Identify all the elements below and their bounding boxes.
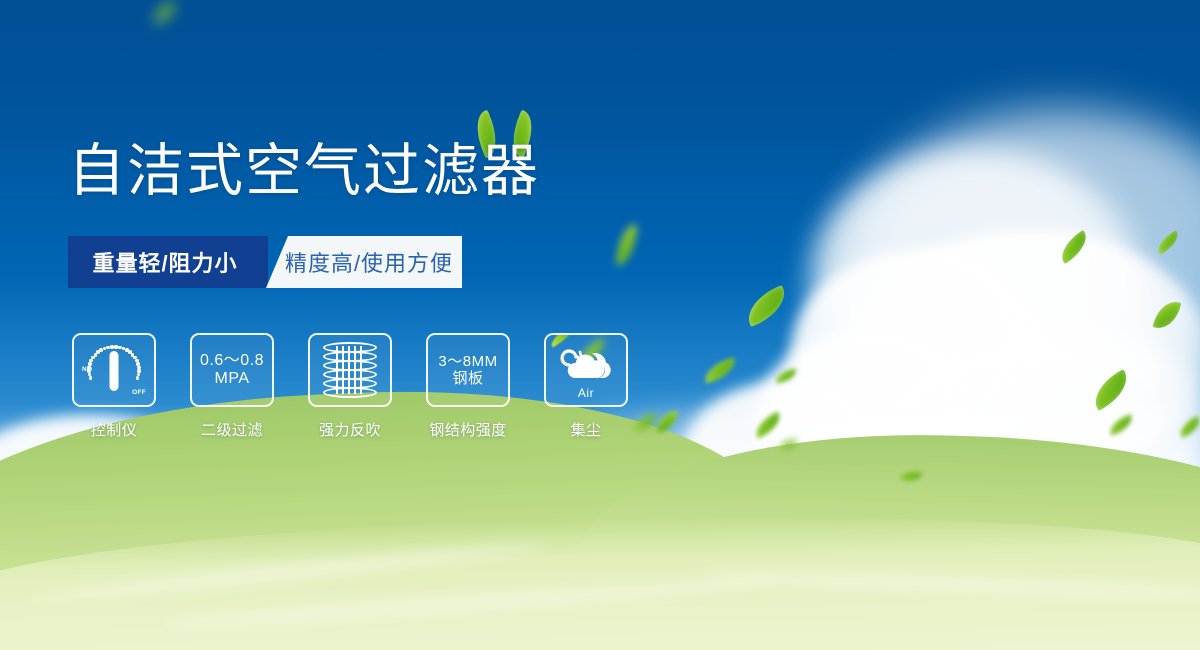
- gauge-tick: [87, 369, 91, 373]
- gauge-tick: [89, 376, 93, 380]
- air-cloud-icon: Air: [555, 345, 617, 395]
- pleated-filter-icon: [323, 342, 377, 398]
- feature-item-controller[interactable]: NO OFF 控制仪: [68, 333, 160, 440]
- subtitle-right-panel: 精度高/使用方便: [266, 236, 462, 288]
- feature-item-blowback[interactable]: 强力反吹: [304, 333, 396, 440]
- gauge-tick: [88, 362, 92, 366]
- feature-icon-box: NO OFF: [72, 333, 156, 407]
- leaf-icon: [701, 357, 739, 384]
- feature-icon-box: [308, 333, 392, 407]
- leaf-icon: [1153, 298, 1182, 332]
- gauge-off-label: OFF: [132, 389, 146, 396]
- feature-label: 钢结构强度: [429, 419, 507, 440]
- gauge-tick: [89, 359, 93, 363]
- feature-label: 控制仪: [91, 419, 138, 440]
- page-title: 自洁式空气过滤器: [68, 143, 540, 200]
- feature-icon-box: 3～8MM 钢板: [426, 333, 510, 407]
- promo-banner: 自洁式空气过滤器 重量轻/阻力小 精度高/使用方便 NO OFF 控制仪 0.6: [0, 0, 1200, 650]
- steel-value-line2: 钢板: [452, 370, 483, 387]
- pressure-value-line1: 0.6～0.8: [200, 352, 264, 370]
- air-label: Air: [555, 386, 617, 400]
- cloud-shape: [850, 110, 1200, 410]
- feature-label: 强力反吹: [319, 419, 381, 440]
- feature-item-steel-strength[interactable]: 3～8MM 钢板 钢结构强度: [422, 333, 514, 440]
- feature-label: 二级过滤: [201, 419, 263, 440]
- leaf-icon: [741, 285, 793, 327]
- leaf-icon: [150, 1, 179, 25]
- feature-list: NO OFF 控制仪 0.6～0.8 MPA 二级过滤: [68, 333, 632, 440]
- gauge-pointer: [110, 351, 119, 391]
- gauge-tick: [87, 366, 91, 370]
- leaf-icon: [616, 223, 637, 267]
- feature-item-dust-collection[interactable]: Air 集尘: [540, 333, 632, 440]
- leaf-icon: [1055, 230, 1093, 264]
- pleat-ring: [323, 387, 377, 398]
- leaf-icon: [774, 368, 798, 384]
- subtitle-bar: 重量轻/阻力小 精度高/使用方便: [68, 236, 462, 288]
- feature-icon-box: Air: [544, 333, 628, 407]
- steel-value-line1: 3～8MM: [438, 353, 497, 370]
- gauge-icon: NO OFF: [83, 342, 145, 398]
- leaf-icon: [1153, 230, 1182, 254]
- subtitle-left-text: 重量轻/阻力小: [92, 246, 243, 278]
- feature-item-secondary-filter[interactable]: 0.6～0.8 MPA 二级过滤: [186, 333, 278, 440]
- subtitle-right-text: 精度高/使用方便: [275, 246, 453, 278]
- feature-label: 集尘: [570, 419, 601, 440]
- gauge-tick: [118, 346, 122, 350]
- cloud-shape: [810, 150, 1140, 410]
- pressure-value-line2: MPA: [215, 370, 250, 388]
- gauge-tick: [136, 376, 140, 380]
- feature-icon-box: 0.6～0.8 MPA: [190, 333, 274, 407]
- subtitle-left-panel: 重量轻/阻力小: [68, 236, 268, 288]
